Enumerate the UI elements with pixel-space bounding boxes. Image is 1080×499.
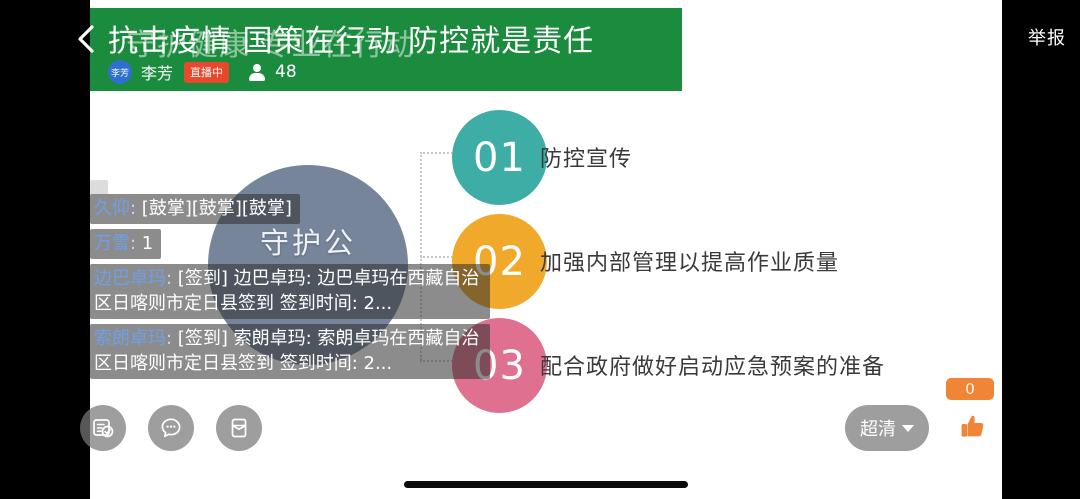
list-item[interactable]: 久仰: [鼓掌][鼓掌][鼓掌] (90, 194, 510, 229)
back-button[interactable] (74, 22, 100, 56)
live-stream-screen: 守护公 01 防控宣传 02 加强内部管理以提高作业质量 03 配合政府 (0, 0, 1080, 499)
chat-username: 边巴卓玛 (94, 268, 166, 289)
quality-label: 超清 (860, 415, 896, 441)
back-chevron-icon (74, 22, 100, 56)
live-status-badge: 直播中 (184, 62, 229, 83)
chat-overlay[interactable]: 久仰: [鼓掌][鼓掌][鼓掌] 万雪: 1 边巴卓玛: [签到] 边巴卓玛: … (90, 180, 510, 384)
chat-bubble-icon (159, 416, 183, 440)
chat-message: 索朗卓玛: [签到] 索朗卓玛: 索朗卓玛在西藏自治区日喀则市定日县签到 签到时… (90, 324, 490, 379)
chevron-down-icon (902, 425, 914, 432)
chat-username: 索朗卓玛 (94, 328, 166, 349)
chat-separator: : (130, 198, 142, 219)
live-header-banner: 守护健康 专业在行动 抗击疫情 国策在行动 防控就是责任 李芳 李芳 直播中 4… (90, 8, 682, 91)
avatar[interactable]: 李芳 (108, 60, 132, 84)
list-item[interactable]: 索朗卓玛: [签到] 索朗卓玛: 索朗卓玛在西藏自治区日喀则市定日县签到 签到时… (90, 324, 510, 384)
quality-selector[interactable]: 超清 (845, 405, 929, 451)
report-button[interactable]: 举报 (1028, 24, 1066, 50)
list-item[interactable]: 边巴卓玛: [签到] 边巴卓玛: 边巴卓玛在西藏自治区日喀则市定日县签到 签到时… (90, 264, 510, 324)
form-button[interactable] (80, 405, 126, 451)
live-title: 抗击疫情 国策在行动 防控就是责任 (108, 16, 594, 60)
chat-message: 久仰: [鼓掌][鼓掌][鼓掌] (90, 194, 300, 224)
chat-message: 万雪: 1 (90, 229, 161, 259)
right-letterbox (1002, 0, 1080, 499)
chat-username: 万雪 (94, 233, 130, 254)
card-button[interactable] (216, 405, 262, 451)
home-indicator-bar (404, 481, 688, 488)
slide-item-label-02: 加强内部管理以提高作业质量 (540, 245, 839, 277)
live-title-wrap: 守护健康 专业在行动 抗击疫情 国策在行动 防控就是责任 (108, 14, 678, 58)
person-icon (249, 64, 265, 81)
chat-separator: : (166, 268, 178, 289)
viewer-count: 48 (275, 62, 297, 82)
form-check-icon (91, 416, 115, 440)
like-count-badge: 0 (946, 378, 994, 400)
chat-message-text: 1 (142, 233, 153, 254)
live-meta-row: 李芳 李芳 直播中 48 (108, 60, 297, 84)
chat-username: 久仰 (94, 198, 130, 219)
card-icon (227, 416, 251, 440)
anchor-name: 李芳 (141, 60, 173, 84)
chat-message-partial (90, 180, 510, 194)
like-button[interactable] (950, 406, 996, 452)
chat-message-text (90, 180, 108, 194)
chat-separator: : (130, 233, 142, 254)
chat-message-text: [鼓掌][鼓掌][鼓掌] (142, 198, 292, 219)
chat-button[interactable] (148, 405, 194, 451)
list-item[interactable]: 万雪: 1 (90, 229, 510, 264)
chat-separator: : (166, 328, 178, 349)
chat-message: 边巴卓玛: [签到] 边巴卓玛: 边巴卓玛在西藏自治区日喀则市定日县签到 签到时… (90, 264, 490, 319)
thumbs-up-icon (956, 410, 990, 449)
slide-item-label-03: 配合政府做好启动应急预案的准备 (540, 349, 885, 381)
stage-bottom-strip (90, 487, 1002, 499)
slide-item-label-01: 防控宣传 (540, 141, 632, 173)
